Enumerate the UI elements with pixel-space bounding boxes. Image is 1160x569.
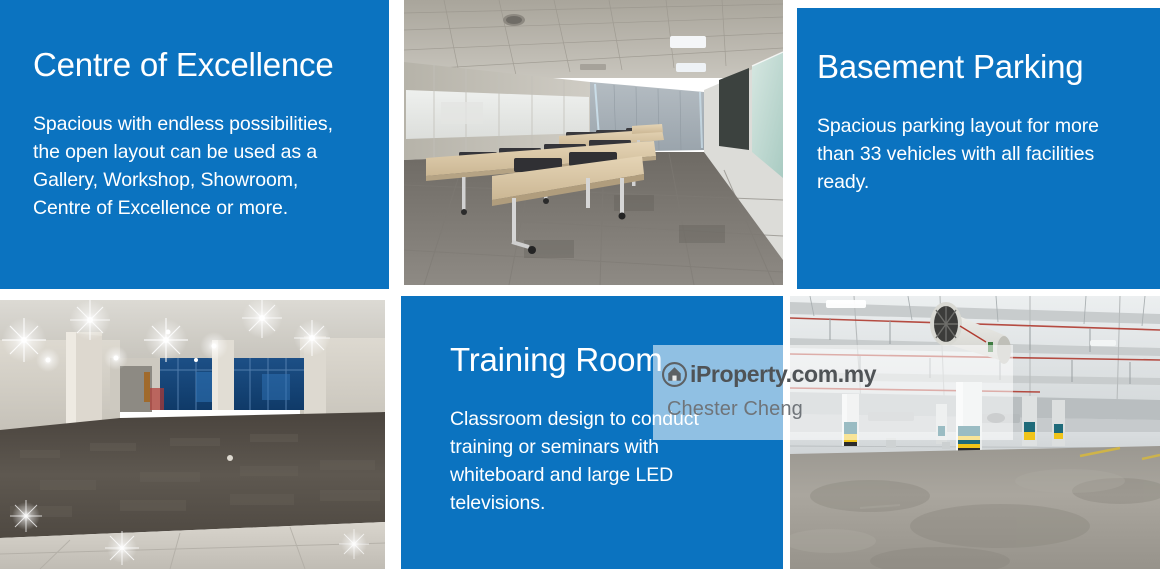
photo-training-classroom [404, 0, 783, 285]
property-listing-collage: Centre of Excellence Spacious with endle… [0, 0, 1160, 569]
panel-body-training-room: Classroom design to conduct training or … [450, 405, 750, 517]
basement-carpark-photo-illustration [790, 296, 1160, 569]
open-hall-photo-illustration [0, 300, 385, 569]
panel-heading-training-room: Training Room [450, 343, 765, 378]
panel-heading-basement-parking: Basement Parking [817, 50, 1142, 85]
classroom-photo-illustration [404, 0, 783, 285]
panel-training-room: Training Room Classroom design to conduc… [401, 296, 783, 569]
panel-basement-parking: Basement Parking Spacious parking layout… [797, 8, 1160, 289]
photo-open-hall [0, 300, 385, 569]
panel-centre-of-excellence: Centre of Excellence Spacious with endle… [0, 0, 389, 289]
panel-body-centre-of-excellence: Spacious with endless possibilities, the… [33, 110, 333, 222]
photo-basement-carpark [790, 296, 1160, 569]
panel-body-basement-parking: Spacious parking layout for more than 33… [817, 112, 1109, 196]
panel-heading-centre-of-excellence: Centre of Excellence [33, 48, 367, 83]
